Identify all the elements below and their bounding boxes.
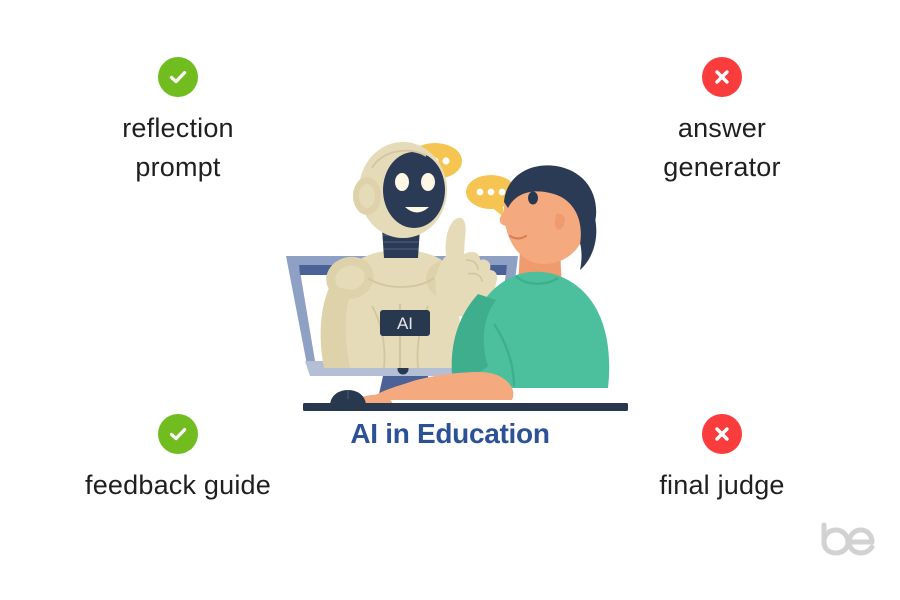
page-title: AI in Education bbox=[0, 418, 900, 450]
label-text-feedback-guide: feedback guide bbox=[85, 466, 271, 505]
be-logo bbox=[818, 522, 880, 556]
robot-chest-ai-text: AI bbox=[397, 314, 413, 333]
label-text-answer-generator: answer generator bbox=[663, 109, 780, 187]
label-text-final-judge: final judge bbox=[659, 466, 784, 505]
check-circle-icon bbox=[158, 57, 198, 97]
x-circle-icon bbox=[702, 57, 742, 97]
label-text-reflection-prompt: reflection prompt bbox=[122, 109, 234, 187]
poster-canvas: reflection prompt answer generator feedb… bbox=[0, 0, 900, 600]
robot-and-student-illustration: AI bbox=[268, 128, 634, 418]
desk-surface bbox=[303, 403, 628, 411]
